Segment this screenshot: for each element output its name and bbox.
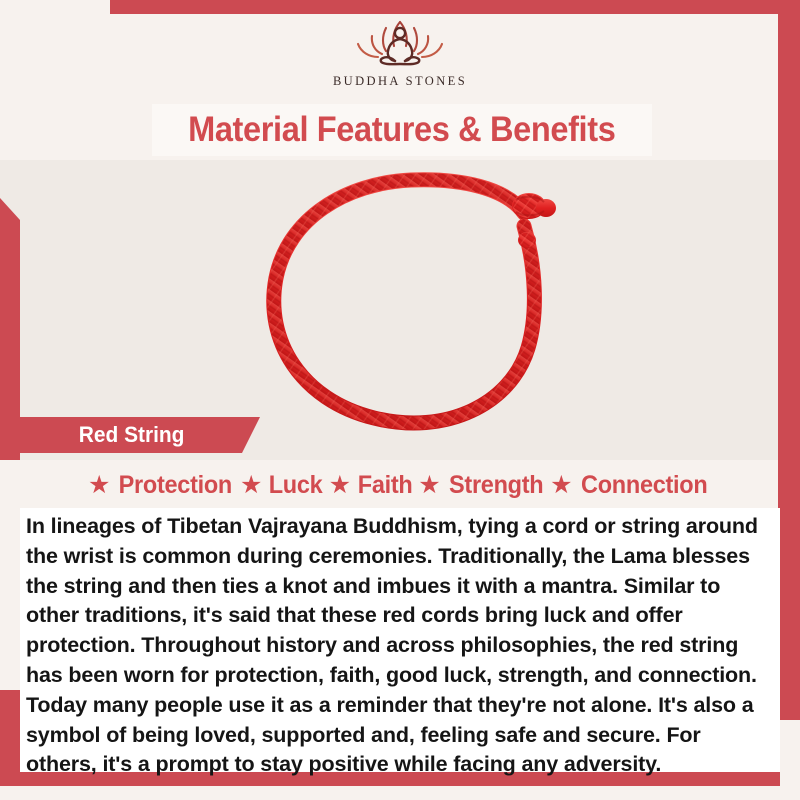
feature-connection: ★ Connection xyxy=(550,471,712,500)
brand-header: BUDDHA STONES xyxy=(0,16,800,102)
description-text: In lineages of Tibetan Vajrayana Buddhis… xyxy=(20,508,780,780)
star-icon: ★ xyxy=(88,473,110,498)
feature-strength: ★ Strength xyxy=(418,471,546,500)
star-icon: ★ xyxy=(550,473,572,498)
feature-protection: ★ Protection xyxy=(88,471,236,500)
feature-label: Faith xyxy=(358,471,413,500)
features-row: ★ Protection ★ Luck ★ Faith ★ Strength ★… xyxy=(20,466,780,504)
feature-luck: ★ Luck xyxy=(240,471,325,500)
bracelet-knot xyxy=(512,193,556,248)
bottom-cream-strip xyxy=(0,786,800,800)
lotus-meditation-icon xyxy=(334,16,466,72)
title-banner: Material Features & Benefits xyxy=(152,104,652,156)
feature-label: Connection xyxy=(582,471,708,500)
section-label-banner: Red String xyxy=(20,417,260,453)
star-icon: ★ xyxy=(329,473,351,498)
brand-wordmark: BUDDHA STONES xyxy=(333,74,467,89)
infographic-page: BUDDHA STONES Material Features & Benefi… xyxy=(0,0,800,800)
star-icon: ★ xyxy=(418,473,440,498)
page-title: Material Features & Benefits xyxy=(188,110,615,150)
star-icon: ★ xyxy=(240,473,262,498)
left-accent-strip xyxy=(0,198,20,460)
product-image xyxy=(206,168,606,440)
feature-label: Protection xyxy=(119,471,232,500)
description-panel: In lineages of Tibetan Vajrayana Buddhis… xyxy=(20,508,780,772)
feature-label: Luck xyxy=(269,471,323,500)
section-label: Red String xyxy=(79,422,185,448)
top-accent-bar xyxy=(110,0,800,14)
right-accent-strip xyxy=(778,0,800,720)
feature-faith: ★ Faith xyxy=(329,471,415,500)
feature-label: Strength xyxy=(449,471,543,500)
red-string-bracelet-illustration xyxy=(206,168,606,440)
